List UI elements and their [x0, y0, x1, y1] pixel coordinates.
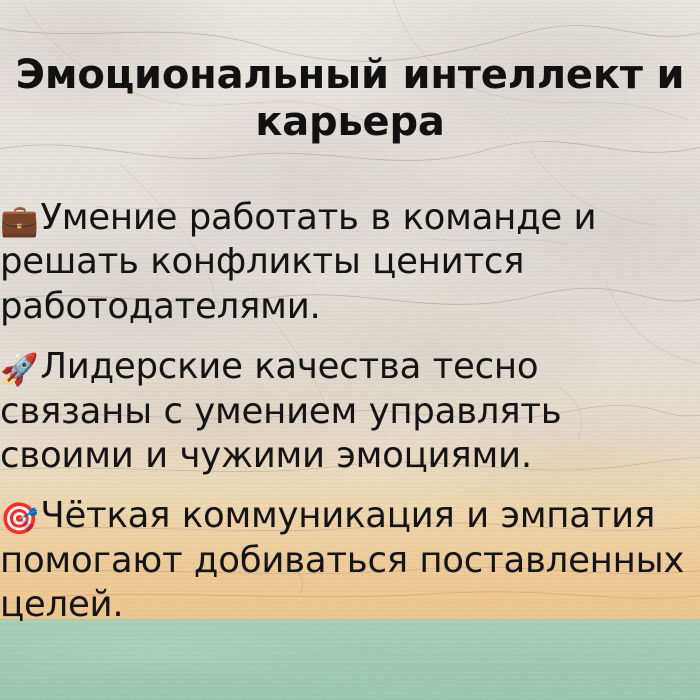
list-item-text: Умение работать в команде и решать конфл… — [0, 197, 596, 327]
slide-content: Эмоциональный интеллект и карьера 💼Умени… — [0, 0, 700, 700]
direct-hit-icon: 🎯 — [0, 504, 38, 535]
list-item: 💼Умение работать в команде и решать конф… — [0, 196, 700, 329]
page-title: Эмоциональный интеллект и карьера — [14, 52, 686, 146]
bullet-list: 💼Умение работать в команде и решать конф… — [0, 196, 700, 627]
list-item-text: Чёткая коммуникация и эмпатия помогают д… — [0, 495, 684, 625]
briefcase-icon: 💼 — [0, 206, 38, 237]
list-item: 🚀Лидерские качества тесно связаны с умен… — [0, 345, 700, 478]
rocket-icon: 🚀 — [0, 355, 38, 386]
slide-card: Эмоциональный интеллект и карьера 💼Умени… — [0, 0, 700, 700]
list-item-text: Лидерские качества тесно связаны с умени… — [0, 346, 561, 476]
list-item: 🎯Чёткая коммуникация и эмпатия помогают … — [0, 494, 700, 627]
